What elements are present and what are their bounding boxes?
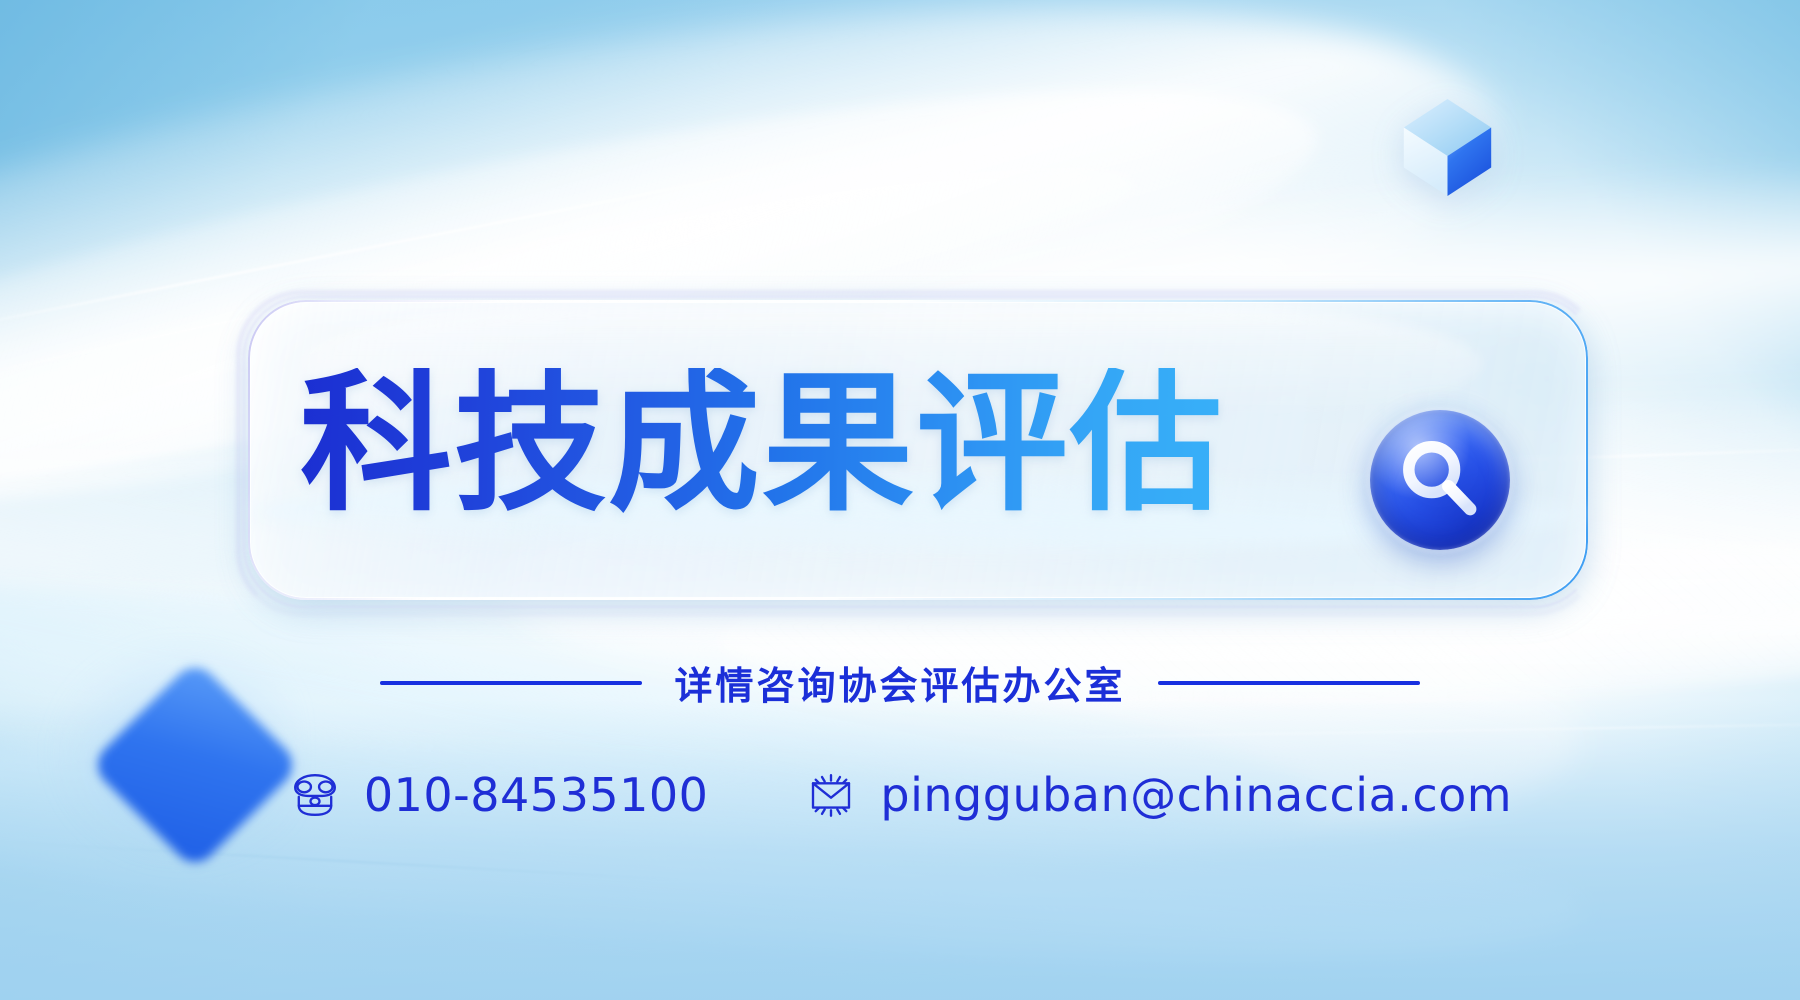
envelope-icon (804, 771, 858, 819)
cube-icon (1400, 95, 1495, 200)
contact-phone[interactable]: 010-84535100 (288, 768, 709, 822)
rule-left (380, 681, 642, 685)
subtitle-row: 详情咨询协会评估办公室 (0, 655, 1800, 710)
contact-row: 010-84535100 pinggu (0, 768, 1800, 822)
telephone-icon (288, 771, 342, 819)
subtitle-text: 详情咨询协会评估办公室 (674, 655, 1125, 710)
search-icon (1388, 428, 1492, 532)
search-badge[interactable] (1370, 410, 1510, 550)
phone-number: 010-84535100 (364, 768, 709, 822)
email-address: pingguban@chinaccia.com (880, 768, 1512, 822)
poster-canvas: 科技成果评估 详情咨询协会评估办公室 (0, 0, 1800, 1000)
rule-right (1158, 681, 1420, 685)
contact-email[interactable]: pingguban@chinaccia.com (804, 768, 1512, 822)
page-title: 科技成果评估 (300, 368, 1224, 520)
